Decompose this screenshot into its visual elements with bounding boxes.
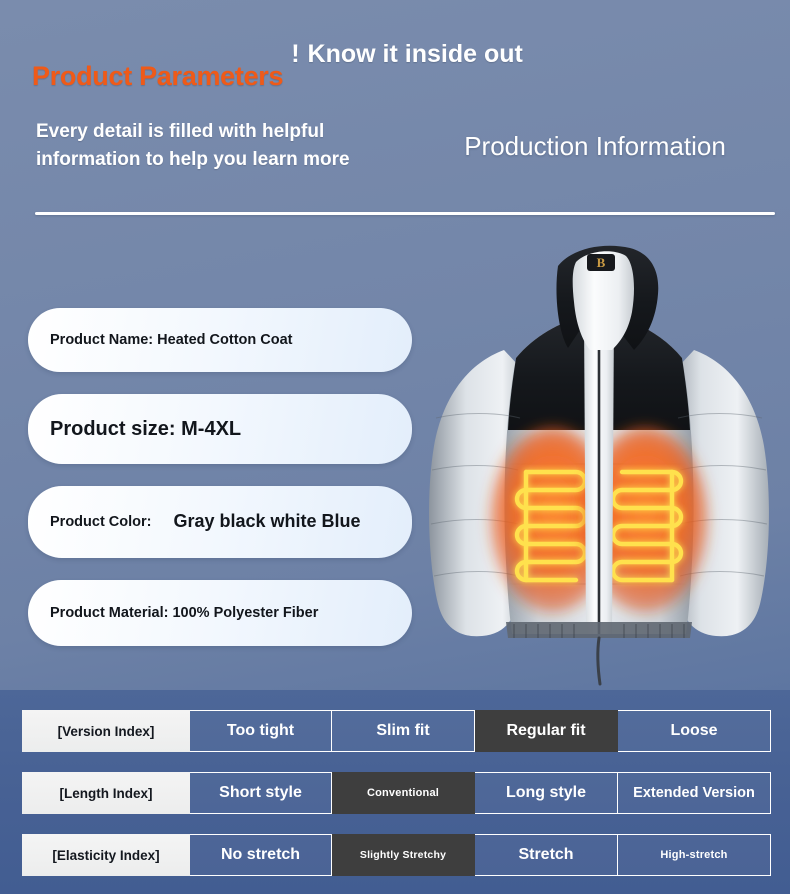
index-option-stretch[interactable]: Stretch: [475, 834, 618, 876]
spec-product-name-label: Product Name: Heated Cotton Coat: [50, 332, 293, 348]
spec-pill-product-size: Product size: M-4XL: [28, 394, 412, 464]
index-option-conventional[interactable]: Conventional: [332, 772, 475, 814]
index-option-extended-version[interactable]: Extended Version: [618, 772, 771, 814]
index-row-version: [Version Index] Too tight Slim fit Regul…: [22, 710, 768, 752]
heating-coil-right: [613, 472, 681, 580]
product-parameters-infographic: Product Parameters !Know it inside out E…: [0, 0, 790, 894]
spec-pill-list: Product Name: Heated Cotton Coat Product…: [28, 308, 412, 668]
index-label-length: [Length Index]: [22, 772, 190, 814]
heating-coil-left: [517, 472, 585, 580]
spec-product-material-label: Product Material: 100% Polyester Fiber: [50, 605, 318, 621]
brand-monogram-icon: B: [597, 255, 606, 270]
index-label-elasticity: [Elasticity Index]: [22, 834, 190, 876]
index-option-high-stretch[interactable]: High-stretch: [618, 834, 771, 876]
index-label-version: [Version Index]: [22, 710, 190, 752]
index-option-regular-fit[interactable]: Regular fit: [475, 710, 618, 752]
index-option-loose[interactable]: Loose: [618, 710, 771, 752]
index-row-length: [Length Index] Short style Conventional …: [22, 772, 768, 814]
spec-product-color-value: Gray black white Blue: [174, 510, 361, 534]
section-title-production-information: Production Information: [445, 131, 745, 162]
header-divider: [35, 212, 775, 215]
page-title-white-text: Know it inside out: [308, 40, 523, 68]
spec-pill-product-name: Product Name: Heated Cotton Coat: [28, 308, 412, 372]
spec-pill-product-material: Product Material: 100% Polyester Fiber: [28, 580, 412, 646]
page-title-white: !Know it inside out: [291, 38, 523, 70]
jacket-hem: [506, 622, 692, 638]
index-option-slim-fit[interactable]: Slim fit: [332, 710, 475, 752]
page-title-orange: Product Parameters: [32, 62, 283, 90]
index-row-elasticity: [Elasticity Index] No stretch Slightly S…: [22, 834, 768, 876]
exclamation-mark: !: [291, 40, 299, 68]
zipper-pull: [598, 638, 600, 684]
index-option-short-style[interactable]: Short style: [190, 772, 332, 814]
index-table: [Version Index] Too tight Slim fit Regul…: [22, 710, 768, 876]
index-option-long-style[interactable]: Long style: [475, 772, 618, 814]
jacket-illustration: B: [408, 232, 790, 694]
spec-product-color-label: Product Color:: [50, 514, 152, 530]
index-option-no-stretch[interactable]: No stretch: [190, 834, 332, 876]
product-image-heated-jacket: B: [408, 232, 790, 694]
index-option-slightly-stretchy[interactable]: Slightly Stretchy: [332, 834, 475, 876]
spec-pill-product-color: Product Color: Gray black white Blue: [28, 486, 412, 558]
title-row: Product Parameters !Know it inside out: [32, 38, 762, 90]
header: Product Parameters !Know it inside out E…: [0, 0, 790, 220]
index-option-too-tight[interactable]: Too tight: [190, 710, 332, 752]
spec-product-size-label: Product size: M-4XL: [50, 418, 241, 441]
header-subtitle: Every detail is filled with helpful info…: [36, 118, 366, 173]
